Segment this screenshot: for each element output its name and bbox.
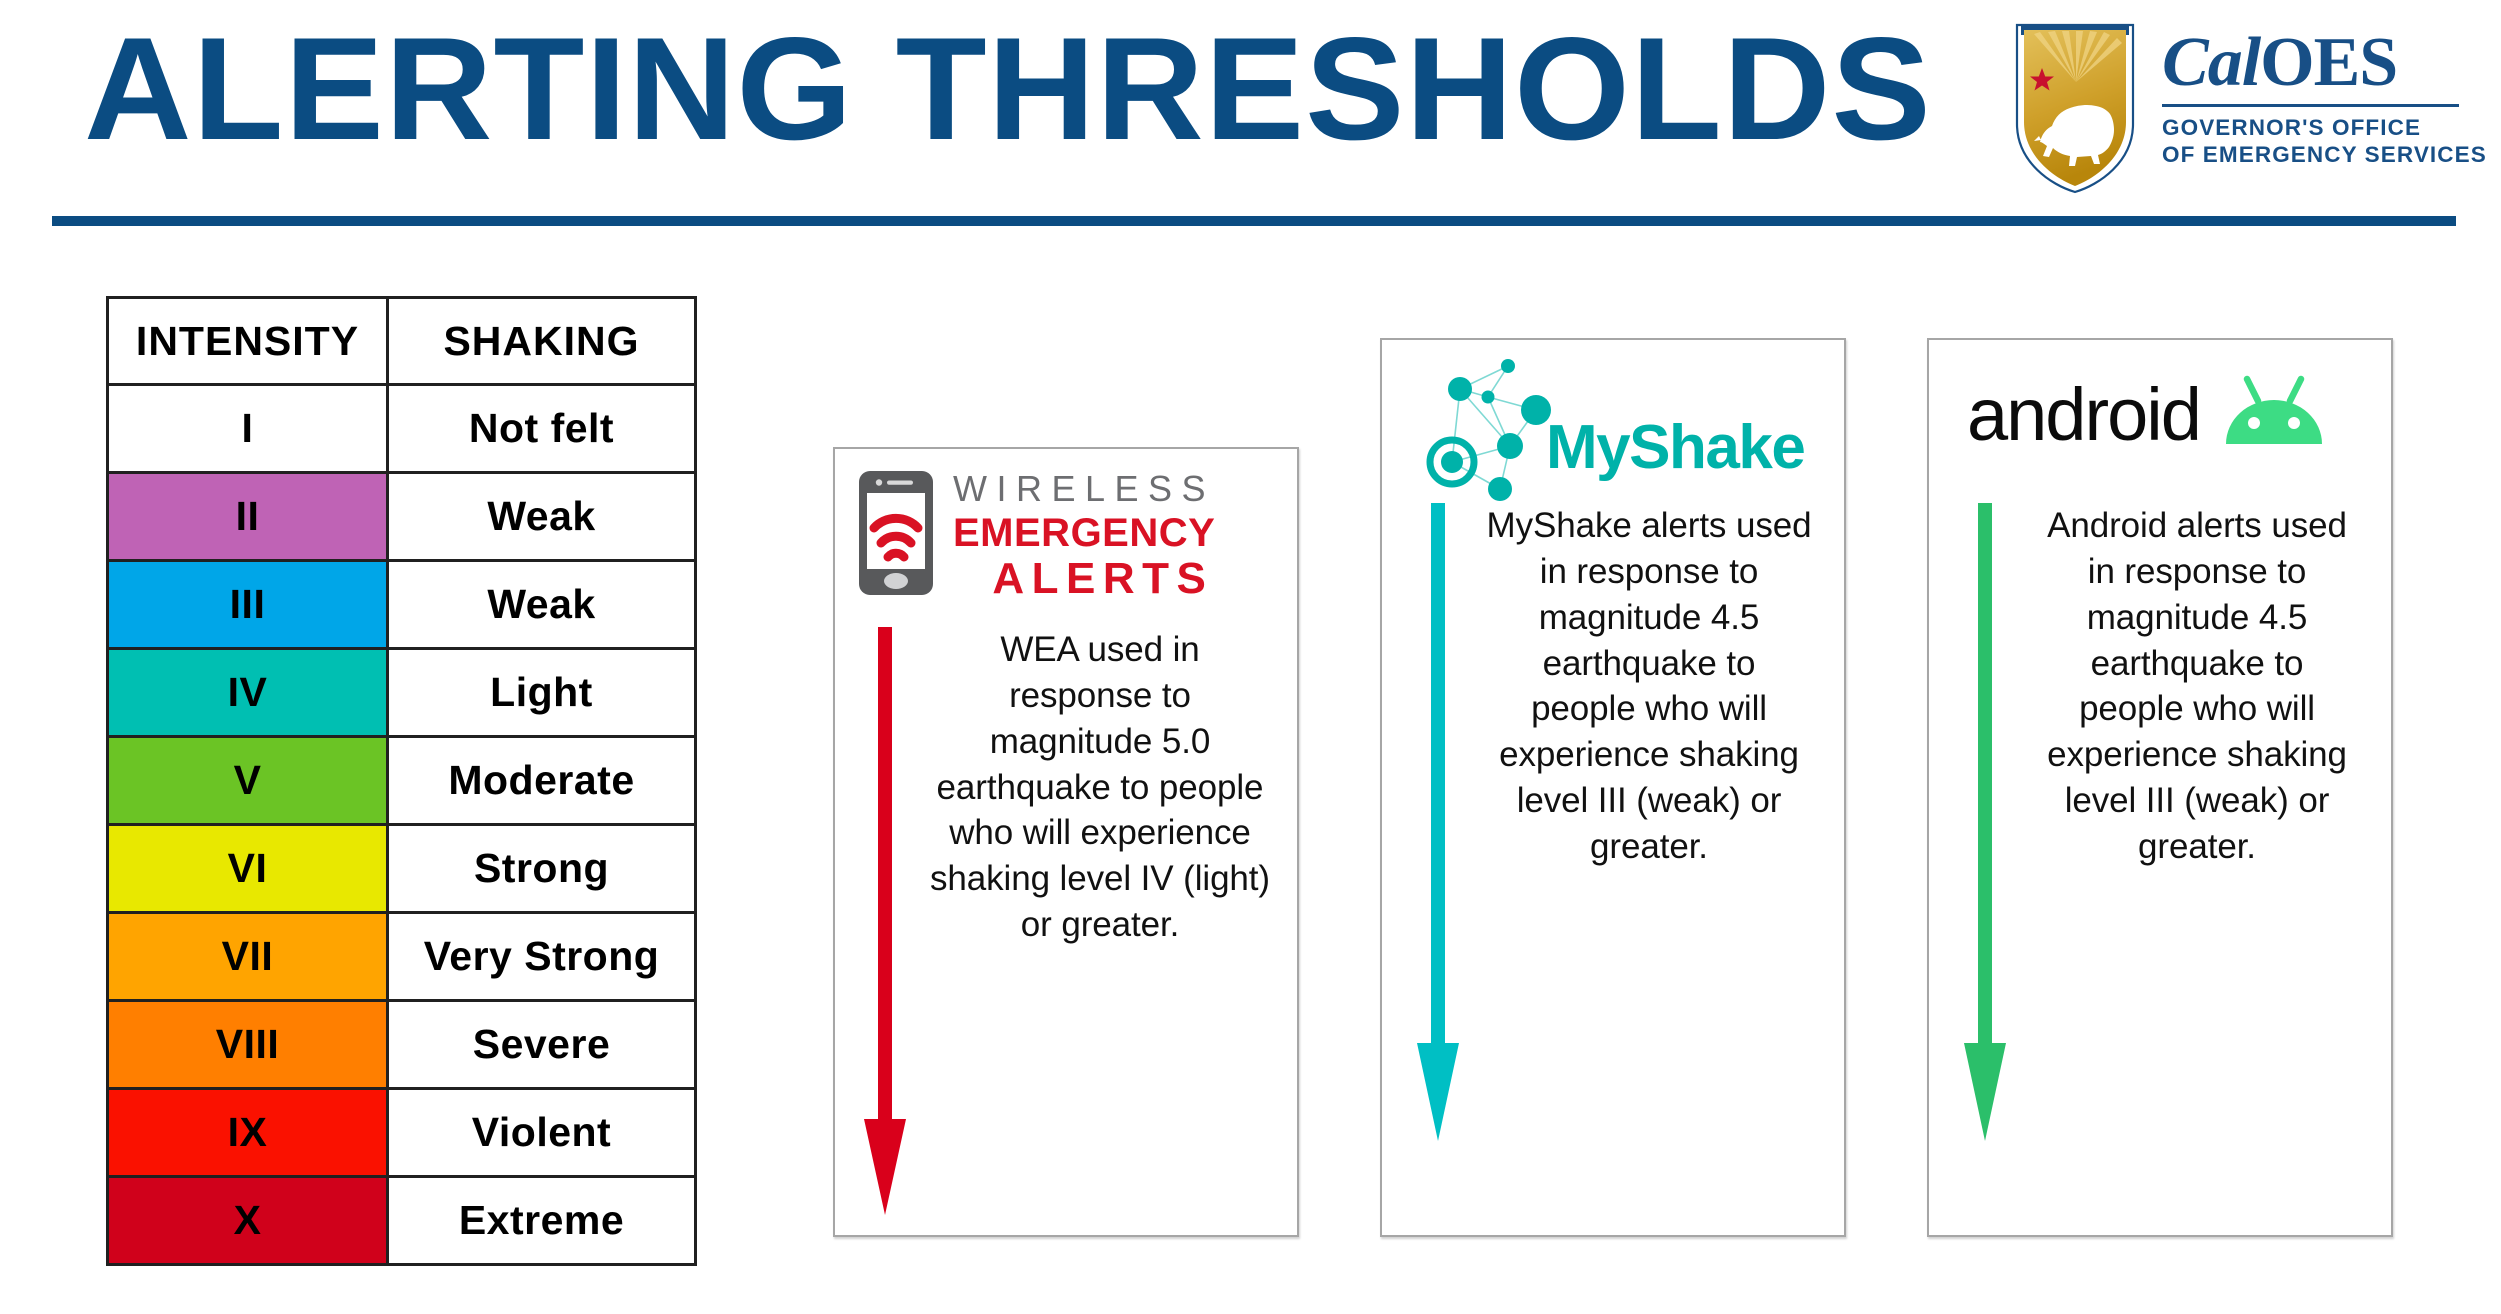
wea-word-wireless: WIRELESS	[953, 471, 1215, 507]
intensity-cell: IV	[108, 649, 388, 737]
down-arrow-teal	[1410, 503, 1466, 1141]
wea-description-text: WEA used in response to magnitude 5.0 ea…	[913, 627, 1277, 948]
table-row: VIStrong	[108, 825, 696, 913]
intensity-cell: III	[108, 561, 388, 649]
wea-body: WEA used in response to magnitude 5.0 ea…	[857, 627, 1277, 1215]
shaking-cell: Moderate	[388, 737, 696, 825]
column-header-intensity: INTENSITY	[108, 298, 388, 385]
panel-myshake: MyShake MyShake alerts used in response …	[1380, 338, 1846, 1237]
table-row: IIIWeak	[108, 561, 696, 649]
cal-oes-name: CalOES	[2162, 28, 2462, 98]
table-row: XExtreme	[108, 1177, 696, 1265]
intensity-cell: IX	[108, 1089, 388, 1177]
myshake-description-text: MyShake alerts used in response to magni…	[1466, 503, 1820, 870]
panel-android: android Android alerts used in response …	[1927, 338, 2393, 1237]
intensity-cell: VIII	[108, 1001, 388, 1089]
myshake-wordmark: MyShake	[1546, 412, 1804, 483]
intensity-cell: VII	[108, 913, 388, 1001]
table-row: VModerate	[108, 737, 696, 825]
shaking-cell: Very Strong	[388, 913, 696, 1001]
header-divider-rule	[52, 216, 2456, 226]
table-row: VIIVery Strong	[108, 913, 696, 1001]
page-header: ALERTING THRESHOLDS	[0, 0, 2501, 232]
shaking-cell: Strong	[388, 825, 696, 913]
android-wordmark: android	[1967, 378, 2200, 452]
cal-oes-name-oes: OES	[2260, 24, 2397, 101]
intensity-cell: I	[108, 385, 388, 473]
table-header-row: INTENSITY SHAKING	[108, 298, 696, 385]
page-title: ALERTING THRESHOLDS	[84, 16, 1932, 162]
cal-oes-logo: CalOES GOVERNOR'S OFFICE OF EMERGENCY SE…	[2010, 22, 2470, 202]
shaking-cell: Light	[388, 649, 696, 737]
california-shield-icon	[2010, 22, 2140, 194]
cal-oes-wordmark: CalOES GOVERNOR'S OFFICE OF EMERGENCY SE…	[2162, 28, 2462, 169]
table-row: IIWeak	[108, 473, 696, 561]
table-row: IXViolent	[108, 1089, 696, 1177]
intensity-cell: X	[108, 1177, 388, 1265]
shaking-cell: Severe	[388, 1001, 696, 1089]
android-description-text: Android alerts used in response to magni…	[2013, 503, 2367, 870]
table-row: VIIISevere	[108, 1001, 696, 1089]
android-body: Android alerts used in response to magni…	[1957, 503, 2367, 1141]
shaking-cell: Extreme	[388, 1177, 696, 1265]
cal-oes-subtitle-line2: OF EMERGENCY SERVICES	[2162, 141, 2462, 168]
myshake-network-icon	[1412, 354, 1562, 507]
intensity-table-body: INot feltIIWeakIIIWeakIVLightVModerateVI…	[108, 385, 696, 1265]
shaking-cell: Weak	[388, 561, 696, 649]
phone-wifi-icon	[857, 469, 935, 602]
cal-oes-subtitle: GOVERNOR'S OFFICE OF EMERGENCY SERVICES	[2162, 114, 2462, 169]
shaking-cell: Weak	[388, 473, 696, 561]
intensity-cell: II	[108, 473, 388, 561]
table-row: IVLight	[108, 649, 696, 737]
column-header-shaking: SHAKING	[388, 298, 696, 385]
cal-oes-underline	[2162, 104, 2459, 107]
android-logo: android	[1929, 340, 2429, 455]
myshake-body: MyShake alerts used in response to magni…	[1410, 503, 1820, 1141]
cal-oes-name-cal: Cal	[2162, 24, 2260, 101]
intensity-cell: V	[108, 737, 388, 825]
intensity-cell: VI	[108, 825, 388, 913]
shaking-cell: Violent	[388, 1089, 696, 1177]
table-row: INot felt	[108, 385, 696, 473]
down-arrow-red	[857, 627, 913, 1215]
wea-word-alerts: ALERTS	[953, 557, 1215, 601]
wea-word-emergency: EMERGENCY	[953, 513, 1215, 553]
cal-oes-subtitle-line1: GOVERNOR'S OFFICE	[2162, 114, 2462, 141]
intensity-shaking-table: INTENSITY SHAKING INot feltIIWeakIIIWeak…	[106, 296, 697, 1266]
android-robot-icon	[2222, 374, 2326, 455]
down-arrow-green	[1957, 503, 2013, 1141]
shaking-cell: Not felt	[388, 385, 696, 473]
wea-logo: WIRELESS EMERGENCY ALERTS	[835, 449, 1319, 602]
myshake-logo: MyShake	[1382, 340, 1874, 507]
wea-wordmark: WIRELESS EMERGENCY ALERTS	[953, 471, 1215, 601]
panel-wireless-emergency-alerts: WIRELESS EMERGENCY ALERTS WEA used in re…	[833, 447, 1299, 1237]
